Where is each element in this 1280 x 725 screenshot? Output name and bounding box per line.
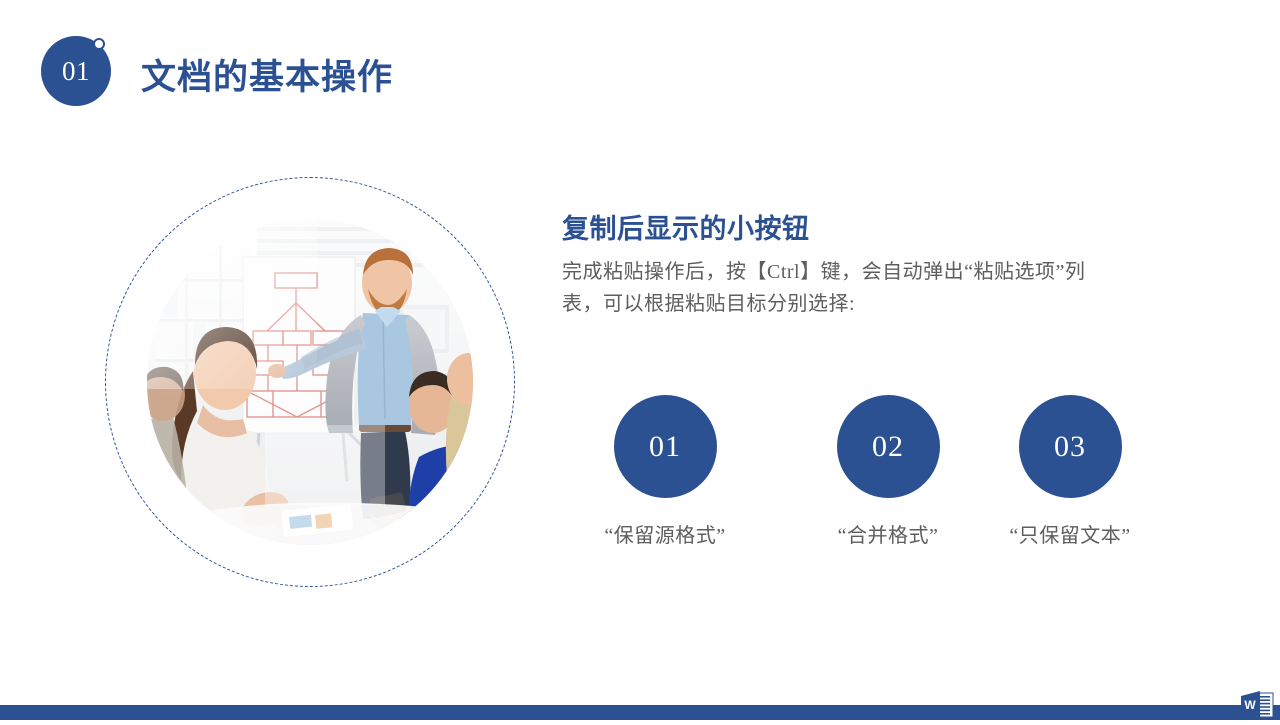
- option-number: 01: [649, 432, 681, 462]
- option-circle-02[interactable]: 02: [837, 395, 940, 498]
- option-caption: “只保留文本”: [980, 519, 1160, 548]
- option-number: 03: [1054, 432, 1086, 462]
- option-circle-01[interactable]: 01: [614, 395, 717, 498]
- word-icon-glyph: W: [1240, 688, 1274, 720]
- slide-header: 01 文档的基本操作: [0, 0, 1280, 140]
- business-meeting-photo-icon: [147, 219, 473, 545]
- option-item[interactable]: 01 “保留源格式”: [575, 395, 755, 548]
- slide-canvas: 01 文档的基本操作: [0, 0, 1280, 720]
- page-title: 文档的基本操作: [141, 49, 393, 100]
- photo-section: [105, 177, 515, 587]
- word-icon-letter: W: [1244, 698, 1256, 712]
- option-item[interactable]: 03 “只保留文本”: [980, 395, 1160, 548]
- word-document-icon: W: [1240, 688, 1274, 720]
- section-badge-number: 01: [62, 58, 90, 85]
- section-badge: 01: [41, 36, 121, 116]
- option-circle-03[interactable]: 03: [1019, 395, 1122, 498]
- option-caption: “保留源格式”: [575, 519, 755, 548]
- badge-accent-dot-icon: [93, 38, 105, 50]
- content-body-text: 完成粘贴操作后，按【Ctrl】键，会自动弹出“粘贴选项”列表，可以根据粘贴目标分…: [562, 256, 1122, 321]
- paste-options-list: 01 “保留源格式” 02 “合并格式” 03 “只保留文本”: [540, 395, 1160, 550]
- meeting-photo: [147, 219, 473, 545]
- footer-accent-bar: [0, 705, 1280, 720]
- option-caption: “合并格式”: [798, 519, 978, 548]
- option-number: 02: [872, 432, 904, 462]
- content-heading: 复制后显示的小按钮: [562, 207, 810, 246]
- option-item[interactable]: 02 “合并格式”: [798, 395, 978, 548]
